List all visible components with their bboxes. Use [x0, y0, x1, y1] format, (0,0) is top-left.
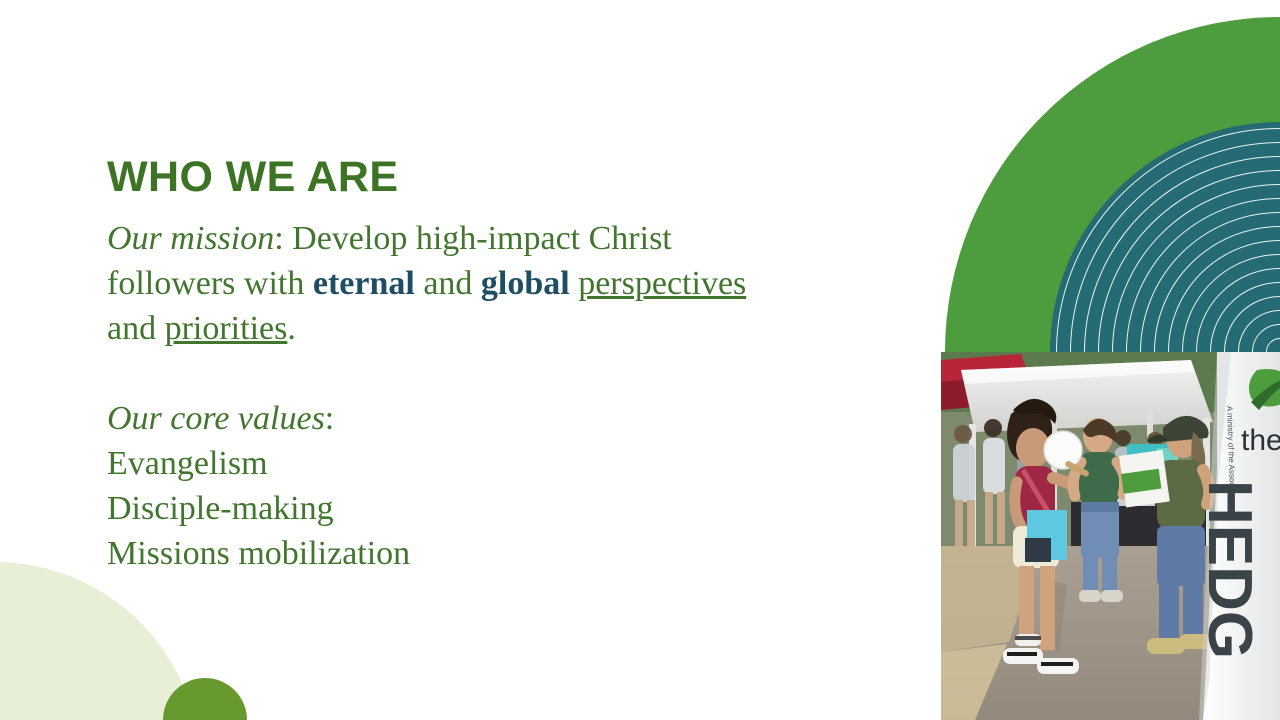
mission-text-part4: and [107, 310, 165, 347]
paragraph-spacer [107, 351, 807, 396]
core-value-item-3: Missions mobilization [107, 531, 807, 576]
mission-colon: : [274, 220, 292, 257]
slide-canvas: the A ministry of the Assoc HEDG WHO WE … [0, 0, 1280, 720]
mission-text-part3 [570, 265, 579, 302]
mission-underline-perspectives: perspectives [578, 265, 746, 302]
page-title: WHO WE ARE [107, 155, 807, 200]
event-photo: the A ministry of the Assoc HEDG [941, 352, 1280, 720]
core-values-heading: Our core values: [107, 396, 807, 441]
mission-text-part5: . [287, 310, 296, 347]
mission-underline-priorities: priorities [165, 310, 288, 347]
mission-highlight-eternal: eternal [313, 265, 415, 302]
core-values-colon: : [325, 400, 334, 437]
mission-paragraph: Our mission: Develop high-impact Christ … [107, 216, 767, 351]
mission-text-part2: and [415, 265, 481, 302]
mission-highlight-global: global [481, 265, 570, 302]
svg-text:HEDG: HEDG [1195, 480, 1264, 659]
body-copy: Our mission: Develop high-impact Christ … [107, 216, 807, 576]
core-value-item-2: Disciple-making [107, 486, 807, 531]
mission-label: Our mission [107, 220, 274, 257]
core-value-item-1: Evangelism [107, 441, 807, 486]
slide-text-content: WHO WE ARE Our mission: Develop high-imp… [107, 155, 807, 576]
svg-text:the: the [1241, 424, 1280, 457]
core-values-label: Our core values [107, 400, 325, 437]
